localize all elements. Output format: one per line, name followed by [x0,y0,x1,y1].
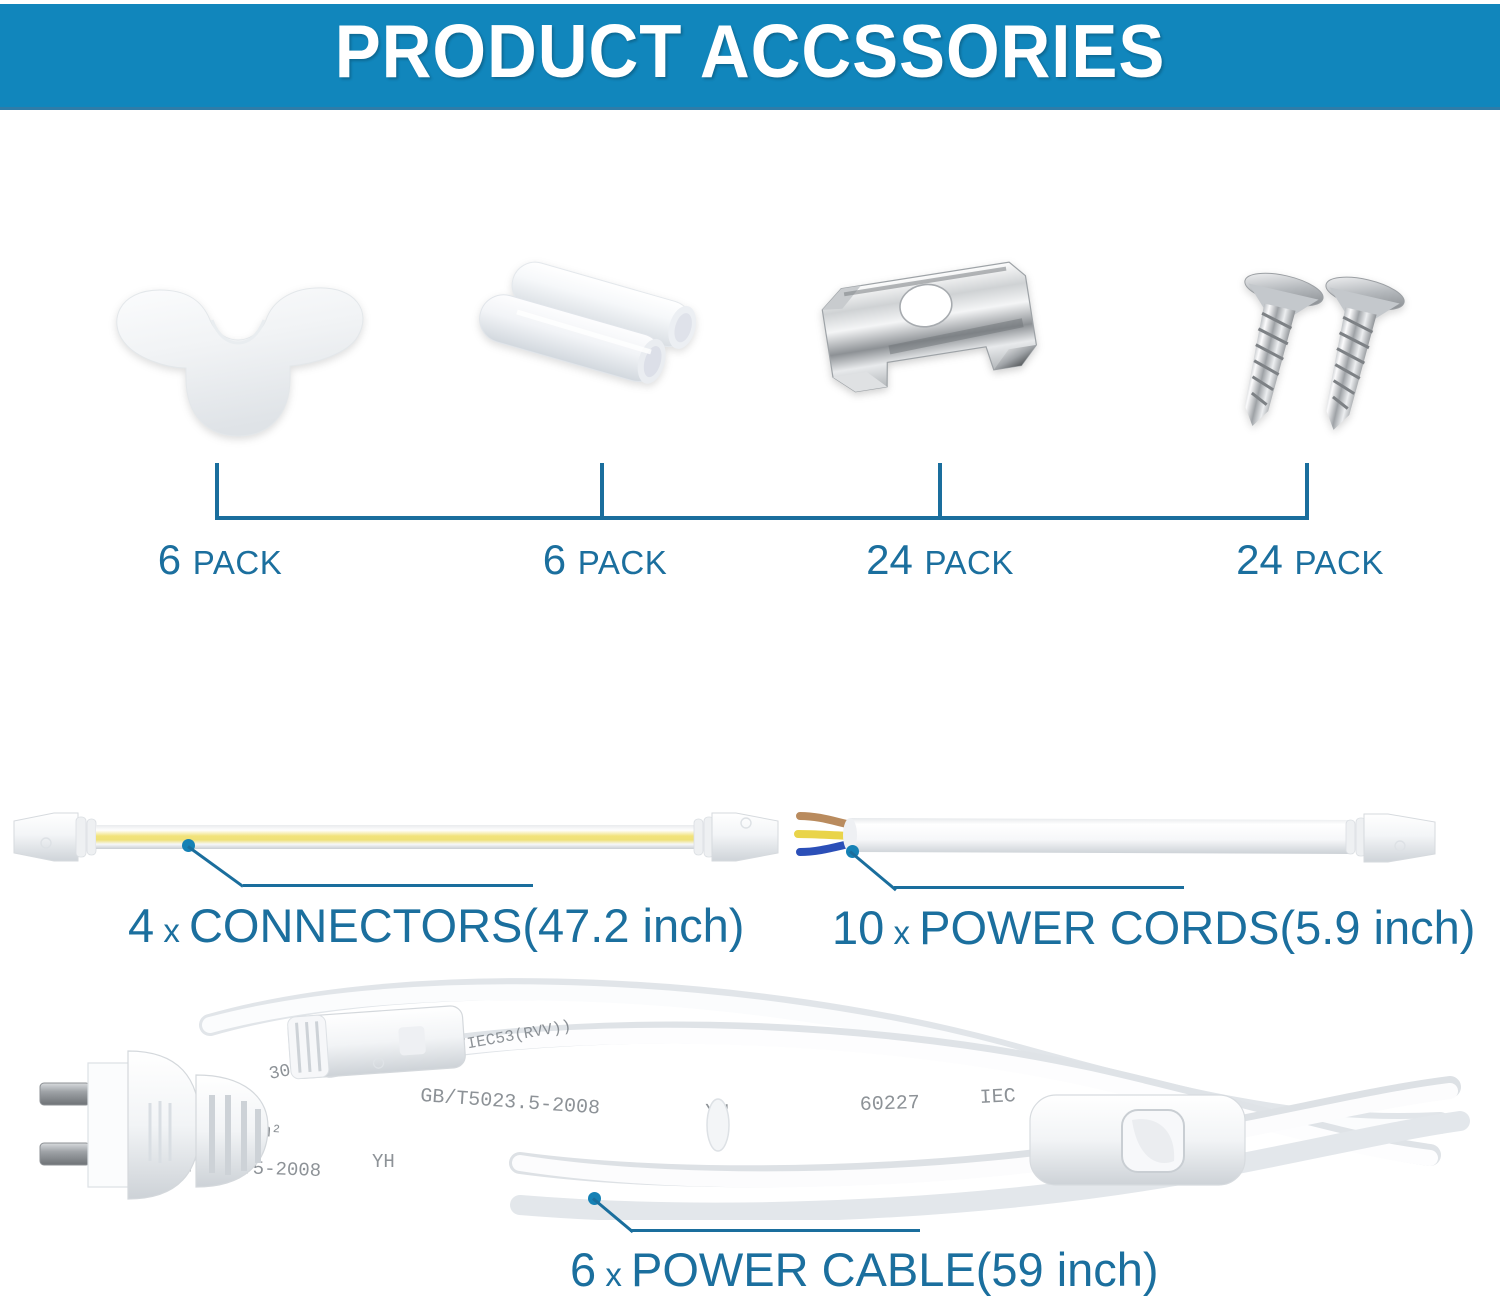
pack-qty-1: 6 [158,536,181,583]
svg-text:YH: YH [372,1151,395,1173]
power-cord-leader-horizontal [894,886,1184,889]
pack-qty-3: 24 [866,536,913,583]
power-cable-text: POWER CABLE(59 inch) [631,1243,1159,1296]
product-item-tube-connector [455,250,755,450]
screws-icon [1180,250,1480,450]
pack-label-2: 6 PACK [455,536,755,584]
pack-qty-2: 6 [543,536,566,583]
power-cords-multiplier: x [893,914,910,951]
product-item-metal-bracket [790,250,1090,450]
connectors-text: CONNECTORS(47.2 inch) [189,899,744,952]
svg-text:IEC: IEC [979,1085,1016,1110]
three-lobe-clip-icon [100,250,400,450]
power-cable-qty: 6 [570,1243,596,1296]
power-cable-icon: GB/T5023.5-2008 YH 60227 IEC 300/300V (2… [0,955,1500,1220]
pack-qty-4: 24 [1236,536,1283,583]
power-cable-leader-horizontal [630,1229,920,1232]
power-cords-text: POWER CORDS(5.9 inch) [919,901,1475,954]
connectors-multiplier: x [163,912,180,949]
svg-text:GB/T5023.5-2008: GB/T5023.5-2008 [420,1085,601,1121]
power-cable-label: 6 x POWER CABLE(59 inch) [570,1242,1159,1297]
svg-text:60227: 60227 [859,1092,920,1117]
pack-unit-1: PACK [193,544,282,581]
pack-label-1: 6 PACK [70,536,370,584]
tube-connector-icon [455,250,755,450]
product-accessories-infographic: PRODUCT ACCSSORIES [0,0,1500,1307]
power-cords-qty: 10 [832,901,884,954]
pack-unit-3: PACK [924,544,1013,581]
bracket-tick-2 [600,463,604,518]
connectors-qty: 4 [128,899,154,952]
bracket-baseline [215,516,1309,520]
pack-unit-4: PACK [1294,544,1383,581]
us-plug [40,1051,268,1199]
metal-bracket-clip-icon [790,250,1090,450]
power-cable-multiplier: x [605,1256,622,1293]
connector-leader-horizontal [243,884,533,887]
bracket-tick-1 [215,463,219,518]
power-cords-label: 10 x POWER CORDS(5.9 inch) [832,900,1475,955]
page-title: PRODUCT ACCSSORIES [60,8,1440,94]
inline-switch [1030,1095,1245,1185]
pack-label-4: 24 PACK [1160,536,1460,584]
product-item-mounting-clip [100,250,400,450]
pack-label-3: 24 PACK [790,536,1090,584]
connector-cable-icon [8,795,788,885]
bracket-tick-4 [1305,463,1309,518]
power-cord-icon [790,798,1450,883]
product-item-screws [1180,250,1480,450]
pack-unit-2: PACK [578,544,667,581]
connectors-label: 4 x CONNECTORS(47.2 inch) [128,898,744,953]
bracket-tick-3 [938,463,942,518]
